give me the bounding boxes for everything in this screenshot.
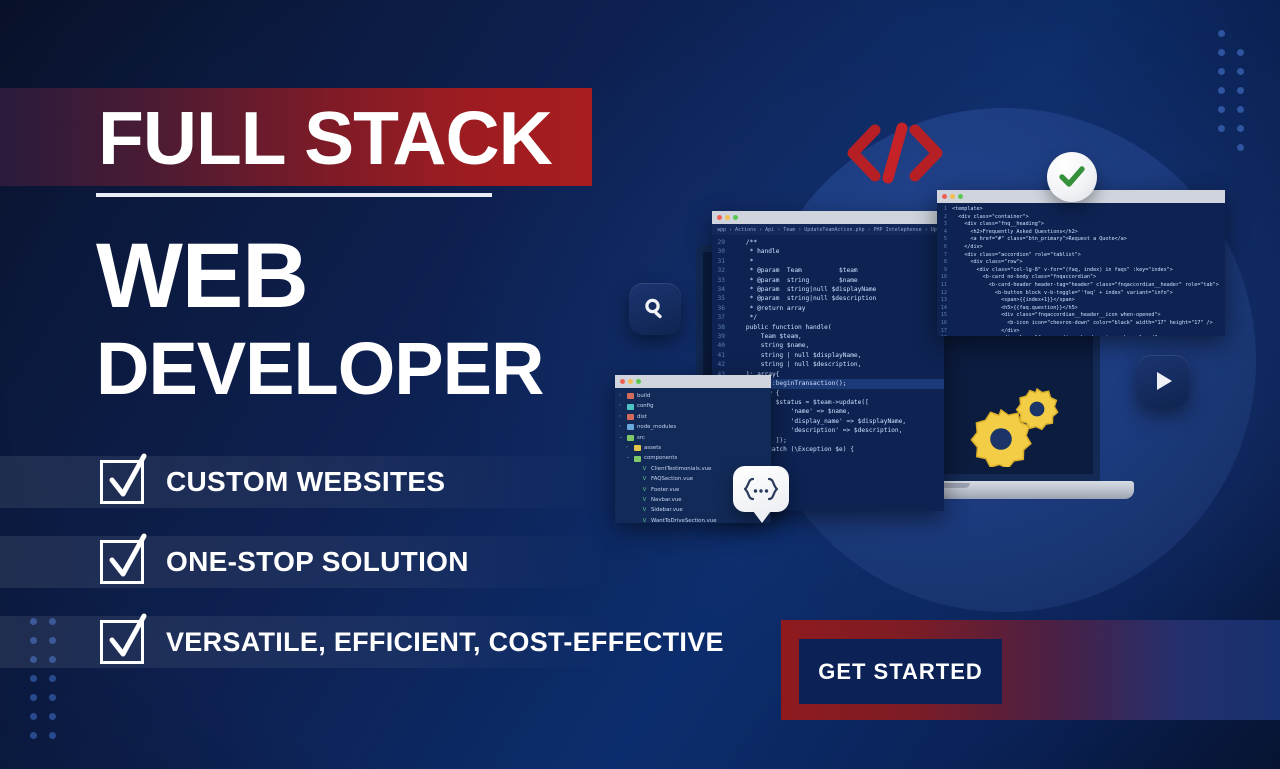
line-number: 15 [937, 312, 952, 320]
folder-icon [634, 456, 641, 462]
checkbox-checked-icon [100, 620, 144, 664]
file-tree-label: Navbar.vue [651, 495, 682, 505]
code-line: 3 <div class="fnq__heading"> [937, 221, 1225, 229]
line-number: 39 [712, 332, 731, 341]
code-text: <b-icon icon="chevron-down" color="black… [952, 320, 1225, 328]
code-line: 2 <div class="container"> [937, 214, 1225, 222]
code-text: </div> [952, 328, 1225, 336]
decorative-dot [1237, 49, 1244, 56]
code-line: 30 * handle [712, 247, 944, 256]
file-tree-label: FAQSection.vue [651, 474, 693, 484]
line-number: 34 [712, 285, 731, 294]
minimize-icon[interactable] [950, 194, 955, 199]
decorative-dot [1237, 30, 1244, 37]
code-line: 41 string | null $displayName, [712, 351, 944, 360]
breadcrumb: app › Actions › Api › Team › UpdateTeamA… [712, 224, 944, 235]
decorative-dot [1237, 68, 1244, 75]
line-number: 8 [937, 259, 952, 267]
code-text: <b-card-header header-tag="header" class… [952, 282, 1225, 290]
folder-icon [627, 424, 634, 430]
file-tree-label: src [637, 433, 645, 443]
file-tree-item[interactable]: ⌄src [619, 433, 771, 443]
line-number: 32 [712, 266, 731, 275]
code-line: 34 * @param string|null $displayName [712, 285, 944, 294]
file-tree-item[interactable]: ›build [619, 391, 771, 401]
window-titlebar [615, 375, 771, 388]
line-number: 31 [712, 257, 731, 266]
feature-item-versatile-efficient-cost-effective: VERSATILE, EFFICIENT, COST-EFFECTIVE [0, 616, 612, 668]
vue-file-icon: V [641, 464, 648, 474]
line-number: 30 [712, 247, 731, 256]
line-number: 13 [937, 297, 952, 305]
file-tree-item[interactable]: ⌄components [619, 453, 771, 463]
code-line: 14 <h5>{{faq.question}}</h5> [937, 305, 1225, 313]
code-line: 7 <div class="accordion" role="tablist"> [937, 252, 1225, 260]
code-text: /** [731, 238, 944, 247]
code-text: <div class="container"> [952, 214, 1225, 222]
line-number: 40 [712, 341, 731, 350]
vue-file-icon: V [641, 505, 648, 515]
gears-glyph [963, 385, 1075, 467]
code-line: 6 </div> [937, 244, 1225, 252]
checkmark-glyph [104, 454, 150, 504]
line-number: 5 [937, 236, 952, 244]
code-text: <a href="#" class="btn_primary">Request … [952, 236, 1225, 244]
decorative-dot [1218, 68, 1225, 75]
line-number: 29 [712, 238, 731, 247]
decorative-dot [1237, 125, 1244, 132]
code-line: 18 <div class="fnqaccordian__header__ico… [937, 335, 1225, 336]
code-text: <div class="fnq__heading"> [952, 221, 1225, 229]
disclosure-arrow-icon[interactable]: › [619, 412, 624, 422]
code-line: 42 string | null $description, [712, 360, 944, 369]
code-line: 16 <b-icon icon="chevron-down" color="bl… [937, 320, 1225, 328]
code-line: 38 public function handle( [712, 323, 944, 332]
line-number: 4 [937, 229, 952, 237]
code-text: Team $team, [731, 332, 944, 341]
line-number: 3 [937, 221, 952, 229]
window-titlebar [712, 211, 944, 224]
line-number: 10 [937, 274, 952, 282]
code-line: 36 * @return array [712, 304, 944, 313]
code-text: string | null $description, [731, 360, 944, 369]
code-text: * [731, 257, 944, 266]
line-number: 42 [712, 360, 731, 369]
vue-code-area[interactable]: 1<template>2 <div class="container">3 <d… [937, 203, 1225, 336]
file-tree-item[interactable]: ›config [619, 401, 771, 411]
vue-file-icon: V [641, 485, 648, 495]
vue-file-icon: V [641, 495, 648, 505]
line-number: 33 [712, 276, 731, 285]
gears-icon [963, 385, 1075, 467]
line-number: 1 [937, 206, 952, 214]
code-line: 1<template> [937, 206, 1225, 214]
code-line: 15 <div class="fnqaccordian__header__ico… [937, 312, 1225, 320]
maximize-icon[interactable] [733, 215, 738, 220]
file-tree-label: dist [637, 412, 647, 422]
decorative-dot [1218, 49, 1225, 56]
folder-icon [627, 435, 634, 441]
feature-label: CUSTOM WEBSITES [166, 466, 445, 498]
code-line: 33 * @param string $name [712, 276, 944, 285]
code-text: string | null $displayName, [731, 351, 944, 360]
code-text: </div> [952, 244, 1225, 252]
file-tree-label: assets [644, 443, 661, 453]
code-line: 4 <h2>Frequently Asked Questions</h2> [937, 229, 1225, 237]
play-icon [1150, 368, 1176, 394]
code-line: 32 * @param Team $team [712, 266, 944, 275]
feature-item-custom-websites: CUSTOM WEBSITES [0, 456, 612, 508]
eyebrow-underline [96, 193, 492, 197]
checkbox-checked-icon [100, 460, 144, 504]
code-line: 10 <b-card no-body class="fnqaccordian"> [937, 274, 1225, 282]
line-number: 17 [937, 328, 952, 336]
close-icon[interactable] [717, 215, 722, 220]
folder-icon [627, 404, 634, 410]
decorative-dot [1218, 125, 1225, 132]
code-line: 13 <span>{{index+1}}</span> [937, 297, 1225, 305]
line-number: 9 [937, 267, 952, 275]
feature-label: ONE-STOP SOLUTION [166, 546, 469, 578]
code-line: 9 <div class="col-lg-8" v-for="(faq, ind… [937, 267, 1225, 275]
close-icon[interactable] [942, 194, 947, 199]
minimize-icon[interactable] [628, 379, 633, 384]
play-icon-badge[interactable] [1137, 355, 1189, 407]
code-text: * @param string|null $displayName [731, 285, 944, 294]
code-braces-bubble-icon [733, 466, 789, 512]
disclosure-arrow-icon[interactable]: ⌄ [619, 433, 624, 443]
code-text: * @param Team $team [731, 266, 944, 275]
decorative-dot [1218, 87, 1225, 94]
line-number: 12 [937, 290, 952, 298]
decorative-dot [1218, 106, 1225, 113]
line-number: 11 [937, 282, 952, 290]
code-text: <div class="fnqaccordian__header__icon w… [952, 335, 1225, 336]
braces-glyph [741, 476, 781, 502]
code-text: <div class="accordion" role="tablist"> [952, 252, 1225, 260]
feature-item-one-stop-solution: ONE-STOP SOLUTION [0, 536, 612, 588]
line-number: 16 [937, 320, 952, 328]
decorative-dot [1237, 144, 1244, 151]
folder-icon [634, 445, 641, 451]
checkmark-glyph [104, 614, 150, 664]
code-line: 31 * [712, 257, 944, 266]
code-text: * @param string|null $description [731, 294, 944, 303]
vue-template-window[interactable]: 1<template>2 <div class="container">3 <d… [937, 190, 1225, 336]
file-tree-item[interactable]: ›dist [619, 412, 771, 422]
folder-icon [627, 414, 634, 420]
check-circle-icon [1047, 152, 1097, 202]
code-line: 37 */ [712, 313, 944, 322]
file-tree-item[interactable]: ›assets [619, 443, 771, 453]
folder-icon [627, 393, 634, 399]
code-text: * @return array [731, 304, 944, 313]
line-number: 41 [712, 351, 731, 360]
code-tag-icon [845, 122, 945, 184]
code-text: <template> [952, 206, 1225, 214]
search-icon [642, 296, 668, 322]
file-tree-label: Sidebar.vue [651, 505, 683, 515]
line-number: 2 [937, 214, 952, 222]
decorative-dot [1237, 87, 1244, 94]
code-line: 11 <b-card-header header-tag="header" cl… [937, 282, 1225, 290]
file-tree-label: node_modules [637, 422, 676, 432]
code-text: * handle [731, 247, 944, 256]
file-tree-label: components [644, 453, 677, 463]
get-started-button[interactable]: GET STARTED [799, 639, 1002, 704]
code-tag-glyph [845, 122, 945, 184]
file-tree-label: ClientTestimonials.vue [651, 464, 711, 474]
disclosure-arrow-icon[interactable]: › [626, 443, 631, 453]
code-text: <div class="col-lg-8" v-for="(faq, index… [952, 267, 1225, 275]
maximize-icon[interactable] [958, 194, 963, 199]
line-number: 14 [937, 305, 952, 313]
code-line: 5 <a href="#" class="btn_primary">Reques… [937, 236, 1225, 244]
code-line: 35 * @param string|null $description [712, 294, 944, 303]
code-line: 12 <b-button block v-b-toggle="'faq' + i… [937, 290, 1225, 298]
vue-file-icon: V [641, 516, 648, 523]
line-number: 37 [712, 313, 731, 322]
line-number: 35 [712, 294, 731, 303]
disclosure-arrow-icon[interactable]: › [619, 391, 624, 401]
code-text: <b-button block v-b-toggle="'faq' + inde… [952, 290, 1225, 298]
code-text: public function handle( [731, 323, 944, 332]
code-text: <div class="row"> [952, 259, 1225, 267]
file-tree-label: WantToDriveSection.vue [651, 516, 717, 523]
code-text: <h5>{{faq.question}}</h5> [952, 305, 1225, 313]
code-line: 8 <div class="row"> [937, 259, 1225, 267]
file-tree-label: build [637, 391, 650, 401]
page-title-line-2: DEVELOPER [96, 325, 543, 413]
file-tree-label: Footer.vue [651, 485, 679, 495]
disclosure-arrow-icon[interactable]: ⌄ [626, 453, 631, 463]
checkmark-icon [1056, 161, 1088, 193]
code-line: 17 </div> [937, 328, 1225, 336]
vue-file-icon: V [641, 474, 648, 484]
code-text: <span>{{index+1}}</span> [952, 297, 1225, 305]
decorative-dot-grid-top-right [1218, 30, 1256, 163]
disclosure-arrow-icon[interactable]: › [619, 401, 624, 411]
eyebrow-text: FULL STACK [98, 96, 598, 180]
code-text: <div class="fnqaccordian__header__icon w… [952, 312, 1225, 320]
code-line: 29 /** [712, 238, 944, 247]
code-text: string $name, [731, 341, 944, 350]
line-number: 6 [937, 244, 952, 252]
page-title-line-1: WEB [96, 228, 308, 324]
checkbox-checked-icon [100, 540, 144, 584]
line-number: 38 [712, 323, 731, 332]
code-text: * @param string $name [731, 276, 944, 285]
maximize-icon[interactable] [636, 379, 641, 384]
code-text: */ [731, 313, 944, 322]
close-icon[interactable] [620, 379, 625, 384]
checkmark-glyph [104, 534, 150, 584]
line-number: 36 [712, 304, 731, 313]
file-tree-label: config [637, 401, 654, 411]
decorative-dot [1218, 30, 1225, 37]
decorative-dot [1218, 144, 1225, 151]
code-line: 40 string $name, [712, 341, 944, 350]
decorative-dot [1237, 106, 1244, 113]
code-text: <b-card no-body class="fnqaccordian"> [952, 274, 1225, 282]
minimize-icon[interactable] [725, 215, 730, 220]
disclosure-arrow-icon[interactable]: › [619, 422, 624, 432]
feature-label: VERSATILE, EFFICIENT, COST-EFFECTIVE [166, 627, 724, 658]
code-text: <h2>Frequently Asked Questions</h2> [952, 229, 1225, 237]
search-icon-badge[interactable] [629, 283, 681, 335]
file-tree-item[interactable]: VWantToDriveSection.vue [619, 516, 771, 523]
line-number: 7 [937, 252, 952, 260]
line-number: 18 [937, 335, 952, 336]
code-line: 39 Team $team, [712, 332, 944, 341]
file-tree-item[interactable]: ›node_modules [619, 422, 771, 432]
